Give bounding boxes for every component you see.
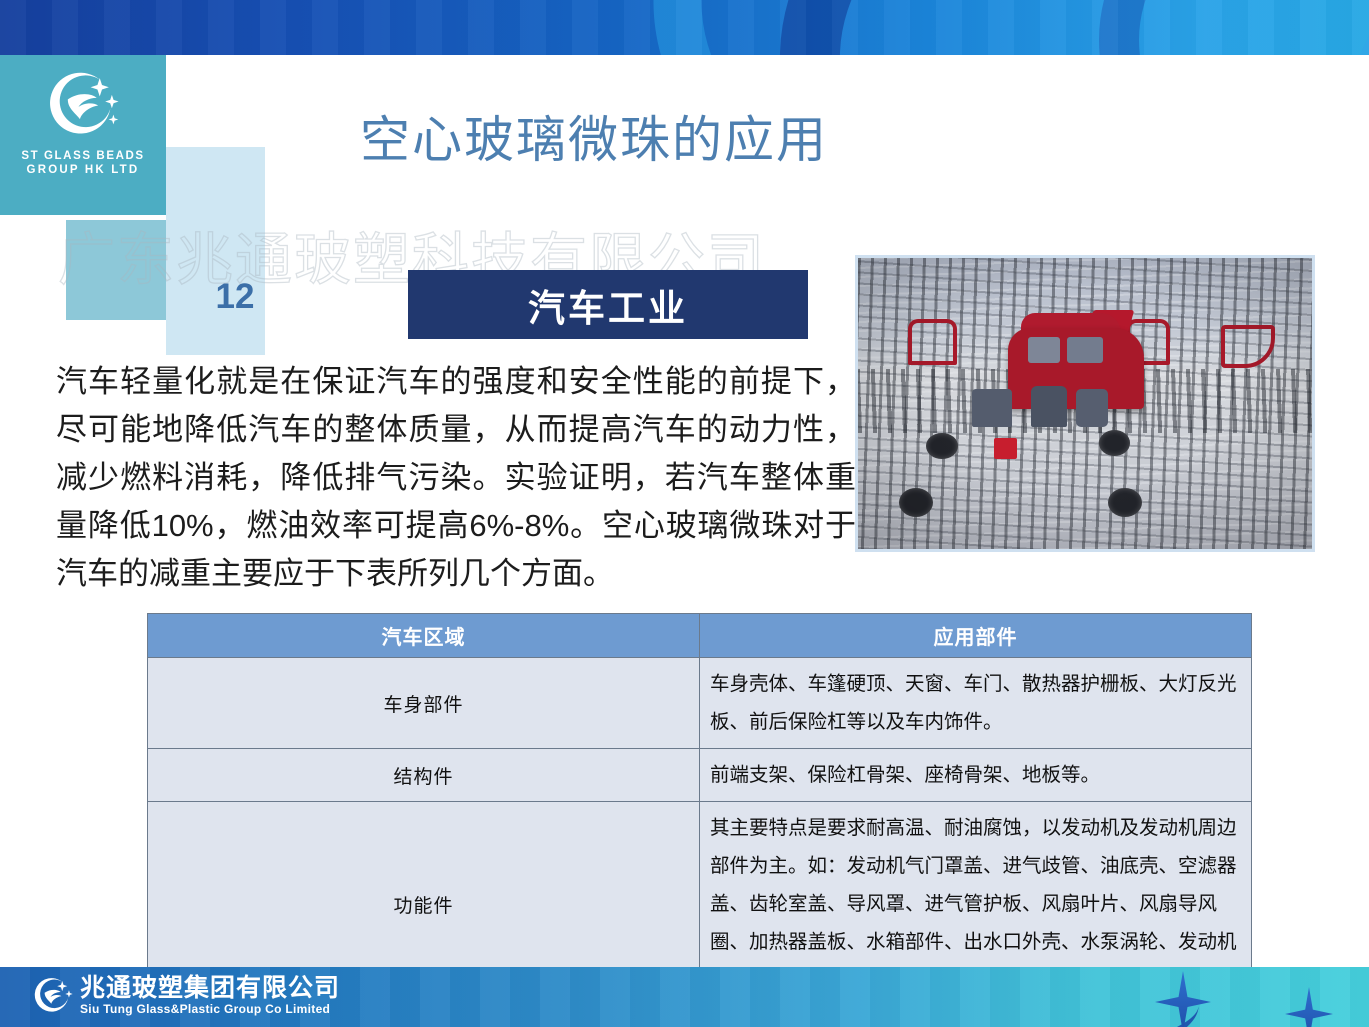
top-decorative-banner	[0, 0, 1369, 55]
section-number: 12	[200, 277, 270, 317]
footer-company-en: Siu Tung Glass&Plastic Group Co Limited	[80, 1002, 340, 1017]
decorative-rect-light	[166, 147, 265, 355]
footer-company-cn: 兆通玻塑集团有限公司	[80, 975, 340, 1002]
photo-vignette	[858, 258, 1312, 549]
footer-company-text: 兆通玻塑集团有限公司 Siu Tung Glass&Plastic Group …	[80, 975, 340, 1017]
slide-canvas: ST GLASS BEADS GROUP HK LTD 广东兆通玻塑科技有限公司…	[0, 0, 1369, 1027]
section-header-label: 汽车工业	[528, 278, 688, 332]
body-paragraph: 汽车轻量化就是在保证汽车的强度和安全性能的前提下，尽可能地降低汽车的整体质量，从…	[56, 358, 856, 598]
table-head: 汽车区域 应用部件	[148, 614, 1252, 658]
banner-stripe-overlay	[0, 0, 1369, 55]
table-row: 车身部件 车身壳体、车篷硬顶、天窗、车门、散热器护栅板、大灯反光板、前后保险杠等…	[148, 658, 1252, 749]
logo-wordmark-line2: GROUP HK LTD	[21, 163, 144, 177]
footer-sparkle-1-icon	[1155, 971, 1211, 1027]
footer-bar: 兆通玻塑集团有限公司 Siu Tung Glass&Plastic Group …	[0, 967, 1369, 1027]
decorative-square-medium	[66, 220, 166, 320]
photo-scene	[858, 258, 1312, 549]
logo-wordmark: ST GLASS BEADS GROUP HK LTD	[21, 149, 144, 178]
table-cell-category: 结构件	[148, 749, 700, 802]
table-row: 结构件 前端支架、保险杠骨架、座椅骨架、地板等。	[148, 749, 1252, 802]
company-logo-block: ST GLASS BEADS GROUP HK LTD	[0, 55, 166, 215]
footer-logo-icon	[32, 976, 74, 1018]
car-parts-photo	[855, 255, 1315, 552]
table-cell-category: 车身部件	[148, 658, 700, 749]
footer-sparkle-2-icon	[1285, 987, 1333, 1027]
table-header-parts: 应用部件	[700, 614, 1252, 658]
section-header-bar: 汽车工业	[408, 270, 808, 339]
application-table: 汽车区域 应用部件 车身部件 车身壳体、车篷硬顶、天窗、车门、散热器护栅板、大灯…	[147, 613, 1252, 1027]
logo-wordmark-line1: ST GLASS BEADS	[21, 149, 144, 163]
table-cell-description: 车身壳体、车篷硬顶、天窗、车门、散热器护栅板、大灯反光板、前后保险杠等以及车内饰…	[700, 658, 1252, 749]
page-title: 空心玻璃微珠的应用	[360, 100, 1060, 172]
table-header-area: 汽车区域	[148, 614, 700, 658]
table-header-row: 汽车区域 应用部件	[148, 614, 1252, 658]
crescent-swoosh-sparkle-logo-icon	[45, 69, 121, 145]
table-cell-description: 前端支架、保险杠骨架、座椅骨架、地板等。	[700, 749, 1252, 802]
